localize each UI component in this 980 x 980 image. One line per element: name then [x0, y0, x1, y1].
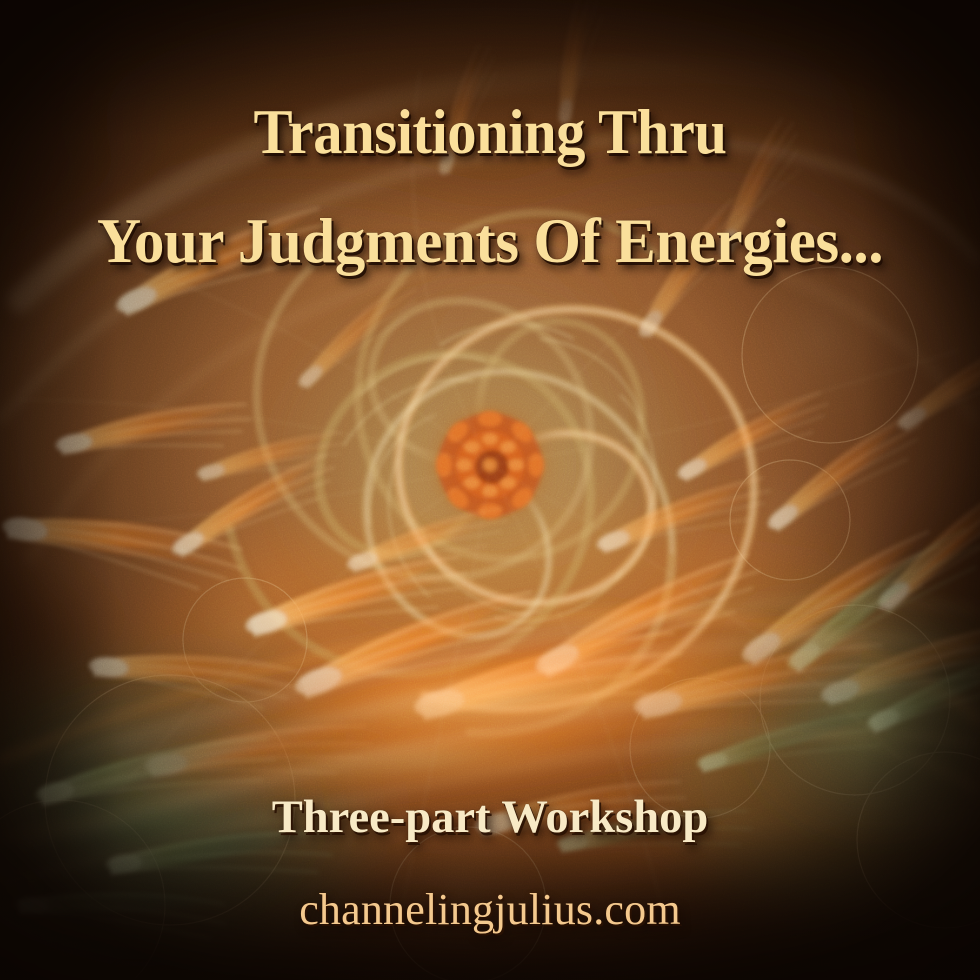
poster-title-line-1: Transitioning Thru — [34, 96, 945, 169]
poster-canvas: Transitioning Thru Your Judgments Of Ene… — [0, 0, 980, 980]
poster-website-url[interactable]: channelingjulius.com — [0, 884, 980, 935]
poster-title-line-2: Your Judgments Of Energies... — [15, 205, 966, 278]
poster-text-layer: Transitioning Thru Your Judgments Of Ene… — [0, 0, 980, 980]
poster-subtitle: Three-part Workshop — [5, 790, 975, 844]
